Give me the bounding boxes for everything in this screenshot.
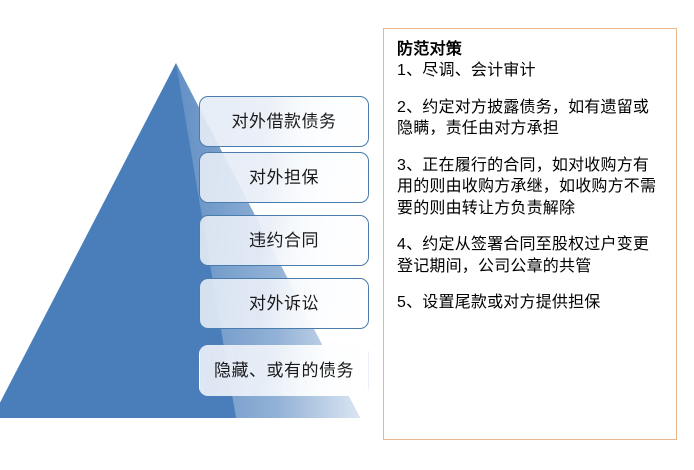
measure-item-5: 5、设置尾款或对方提供担保 — [397, 292, 663, 313]
pyramid-level-1-label: 对外借款债务 — [232, 113, 337, 130]
pyramid-level-1[interactable]: 对外借款债务 — [199, 96, 369, 147]
measure-item-1: 1、尽调、会计审计 — [397, 60, 663, 81]
pyramid-level-3[interactable]: 违约合同 — [199, 215, 369, 266]
pyramid-level-2[interactable]: 对外担保 — [199, 152, 369, 203]
measure-spacer — [397, 219, 663, 234]
pyramid-level-4[interactable]: 对外诉讼 — [199, 278, 369, 329]
measure-spacer — [397, 82, 663, 97]
pyramid-level-4-label: 对外诉讼 — [249, 295, 319, 312]
measures-panel: 防范对策 1、尽调、会计审计 2、约定对方披露债务，如有遗留或隐瞒，责任由对方承… — [383, 28, 677, 440]
pyramid-level-3-label: 违约合同 — [249, 232, 319, 249]
measures-panel-title: 防范对策 — [397, 39, 663, 60]
pyramid-level-5-label: 隐藏、或有的债务 — [214, 362, 354, 379]
pyramid-level-list: 对外借款债务 对外担保 违约合同 对外诉讼 隐藏、或有的债务 — [0, 0, 380, 470]
measure-item-3: 3、正在履行的合同，如对收购方有用的则由收购方承继，如收购方不需要的则由转让方负… — [397, 155, 663, 219]
measure-spacer — [397, 140, 663, 155]
pyramid-diagram: 对外借款债务 对外担保 违约合同 对外诉讼 隐藏、或有的债务 — [0, 0, 380, 470]
measure-item-4: 4、约定从签署合同至股权过户变更登记期间，公司公章的共管 — [397, 234, 663, 277]
pyramid-level-2-label: 对外担保 — [249, 169, 319, 186]
pyramid-level-5[interactable]: 隐藏、或有的债务 — [199, 345, 369, 396]
measure-spacer — [397, 277, 663, 292]
measure-item-2: 2、约定对方披露债务，如有遗留或隐瞒，责任由对方承担 — [397, 97, 663, 140]
